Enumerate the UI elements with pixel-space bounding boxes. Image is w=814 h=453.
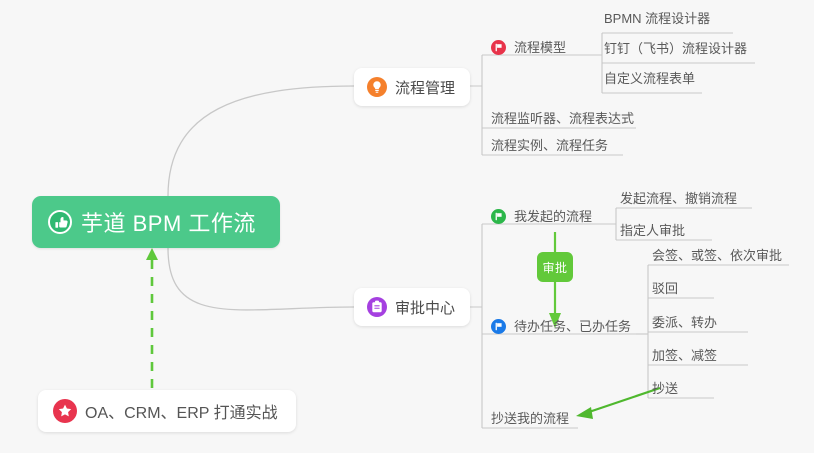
leaf-label: 流程模型 bbox=[514, 41, 566, 55]
leaf-bohui[interactable]: 驳回 bbox=[652, 282, 678, 301]
leaf-dingding-designer[interactable]: 钉钉（飞书）流程设计器 bbox=[604, 42, 747, 61]
leaf-label: 钉钉（飞书）流程设计器 bbox=[604, 41, 747, 56]
branch-label-shenpi-zhongxin: 审批中心 bbox=[395, 297, 455, 318]
star-icon bbox=[53, 399, 77, 423]
approval-badge: 审批 bbox=[537, 252, 573, 282]
leaf-label: 发起流程、撤销流程 bbox=[620, 191, 737, 206]
leaf-label: 委派、转办 bbox=[652, 315, 717, 330]
root-label: 芋道 BPM 工作流 bbox=[81, 206, 256, 238]
leaf-faqi-chexiao[interactable]: 发起流程、撤销流程 bbox=[620, 192, 737, 211]
copy-arrow-shaft bbox=[586, 388, 660, 413]
mindmap-canvas: 芋道 BPM 工作流 流程管理 流程模型 BPMN 流程设计器 钉钉（飞书）流程… bbox=[0, 0, 814, 453]
leaf-label: 抄送我的流程 bbox=[491, 411, 569, 426]
lightbulb-icon bbox=[367, 77, 387, 97]
leaf-jiaqian-jianqian[interactable]: 加签、减签 bbox=[652, 349, 717, 368]
flag-icon bbox=[491, 209, 506, 224]
leaf-bpmn-designer[interactable]: BPMN 流程设计器 bbox=[604, 12, 710, 31]
leaf-label: 驳回 bbox=[652, 281, 678, 296]
leaf-daiban-yiban-renwu[interactable]: 待办任务、已办任务 bbox=[491, 319, 631, 339]
leaf-custom-form[interactable]: 自定义流程表单 bbox=[604, 72, 695, 91]
flag-icon bbox=[491, 40, 506, 55]
leaf-liucheng-jiantingqi[interactable]: 流程监听器、流程表达式 bbox=[491, 112, 634, 131]
leaf-weipai-zhuanban[interactable]: 委派、转办 bbox=[652, 316, 717, 335]
leaf-label: 流程监听器、流程表达式 bbox=[491, 111, 634, 126]
leaf-wo-faqi-de-liucheng[interactable]: 我发起的流程 bbox=[491, 209, 592, 229]
leaf-label: 抄送 bbox=[652, 381, 678, 396]
leaf-chaosong[interactable]: 抄送 bbox=[652, 382, 678, 401]
leaf-label: 会签、或签、依次审批 bbox=[652, 248, 782, 263]
leaf-label: 加签、减签 bbox=[652, 348, 717, 363]
clipboard-icon bbox=[367, 297, 387, 317]
leaf-liucheng-moxing[interactable]: 流程模型 bbox=[491, 40, 566, 60]
leaf-label: 待办任务、已办任务 bbox=[514, 320, 631, 334]
leaf-label: 流程实例、流程任务 bbox=[491, 138, 608, 153]
branch-label-liucheng-guanli: 流程管理 bbox=[395, 77, 455, 98]
leaf-liucheng-shili[interactable]: 流程实例、流程任务 bbox=[491, 139, 608, 158]
leaf-label: 我发起的流程 bbox=[514, 210, 592, 224]
root-node[interactable]: 芋道 BPM 工作流 bbox=[32, 196, 280, 248]
leaf-huiqian-huoqian[interactable]: 会签、或签、依次审批 bbox=[652, 249, 782, 268]
branch-node-shenpi-zhongxin[interactable]: 审批中心 bbox=[354, 288, 470, 326]
branch-node-liucheng-guanli[interactable]: 流程管理 bbox=[354, 68, 470, 106]
dashed-arrow-head bbox=[146, 248, 158, 260]
leaf-label: 指定人审批 bbox=[620, 223, 685, 238]
leaf-chaosong-wode-liucheng[interactable]: 抄送我的流程 bbox=[491, 412, 569, 431]
leaf-zhidingren-shenpi[interactable]: 指定人审批 bbox=[620, 224, 685, 243]
leaf-label: 自定义流程表单 bbox=[604, 71, 695, 86]
approval-badge-label: 审批 bbox=[542, 259, 567, 276]
link-root-to-liucheng-guanli bbox=[168, 86, 354, 196]
copy-arrow-head bbox=[576, 407, 593, 419]
flag-icon bbox=[491, 319, 506, 334]
thumbs-up-icon bbox=[48, 210, 72, 234]
leaf-label: BPMN 流程设计器 bbox=[604, 11, 710, 26]
bottom-node-oa-crm-erp[interactable]: OA、CRM、ERP 打通实战 bbox=[38, 390, 296, 432]
bottom-node-label: OA、CRM、ERP 打通实战 bbox=[85, 399, 278, 423]
link-root-to-shenpi-zhongxin bbox=[168, 248, 354, 310]
